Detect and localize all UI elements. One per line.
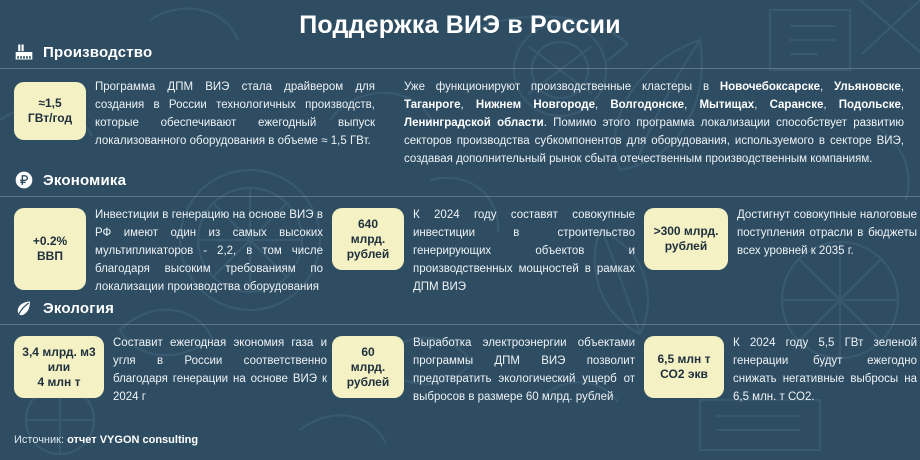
page-title: Поддержка ВИЭ в России [0, 0, 920, 40]
section-title-production: Производство [43, 44, 152, 61]
text-ecology-1: Составит ежегодная экономия газа и угля … [113, 334, 327, 406]
text-economy-3: Достигнут совокупные налоговые поступлен… [737, 206, 917, 260]
section-title-ecology: Экология [43, 300, 114, 317]
text-economy-1: Инвестиции в генерацию на основе ВИЭ в Р… [95, 206, 323, 296]
text-ecology-2: Выработка электроэнергии объектами прогр… [413, 334, 635, 406]
section-economy: Экономика +0.2% ВВП Инвестиции в генерац… [0, 168, 920, 296]
section-header-economy: Экономика [0, 168, 920, 192]
cell-ecology-2: 60 млрд. рублей Выработка электроэнергии… [332, 334, 644, 406]
row-economy: +0.2% ВВП Инвестиции в генерацию на осно… [0, 197, 920, 296]
badge-economy-gdp: +0.2% ВВП [14, 208, 86, 290]
leaf-icon [14, 298, 34, 318]
section-header-production: Производство [0, 40, 920, 64]
badge-production-capacity: ≈1,5 ГВт/год [14, 82, 86, 140]
section-production: Производство ≈1,5 ГВт/год Программа ДПМ … [0, 40, 920, 168]
source-value: отчет VYGON consulting [67, 434, 198, 446]
badge-ecology-damage-prevented: 60 млрд. рублей [332, 336, 404, 398]
badge-ecology-co2: 6,5 млн т СО2 экв [644, 336, 724, 398]
cell-economy-1: +0.2% ВВП Инвестиции в генерацию на осно… [14, 206, 332, 296]
cell-ecology-3: 6,5 млн т СО2 экв К 2024 году 5,5 ГВт зе… [644, 334, 920, 406]
cell-production-2: Уже функционируют производственные класт… [384, 78, 904, 168]
cell-economy-2: 640 млрд. рублей К 2024 году составят со… [332, 206, 644, 296]
cell-ecology-1: 3,4 млрд. м3 или 4 млн т Составит ежегод… [14, 334, 332, 406]
badge-economy-taxes: >300 млрд. рублей [644, 208, 728, 270]
badge-economy-investment: 640 млрд. рублей [332, 208, 404, 270]
text-production-2: Уже функционируют производственные класт… [404, 78, 904, 168]
text-production-1: Программа ДПМ ВИЭ стала драйвером для со… [95, 78, 375, 150]
badge-ecology-fuel-savings: 3,4 млрд. м3 или 4 млн т [14, 336, 104, 398]
text-economy-2: К 2024 году составят совокупные инвестиц… [413, 206, 635, 296]
ruble-circle-icon [14, 170, 34, 190]
text-ecology-3: К 2024 году 5,5 ГВт зеленой генерации бу… [733, 334, 917, 406]
cell-economy-3: >300 млрд. рублей Достигнут совокупные н… [644, 206, 920, 270]
infographic-root: Поддержка ВИЭ в России [0, 0, 920, 460]
row-ecology: 3,4 млрд. м3 или 4 млн т Составит ежегод… [0, 325, 920, 406]
cell-production-1: ≈1,5 ГВт/год Программа ДПМ ВИЭ стала дра… [14, 78, 384, 150]
section-ecology: Экология 3,4 млрд. м3 или 4 млн т Состав… [0, 296, 920, 406]
row-production: ≈1,5 ГВт/год Программа ДПМ ВИЭ стала дра… [0, 69, 920, 168]
source-note: Источник: отчет VYGON consulting [14, 434, 198, 446]
source-label: Источник: [14, 434, 64, 446]
section-title-economy: Экономика [43, 172, 126, 189]
factory-icon [14, 42, 34, 62]
section-header-ecology: Экология [0, 296, 920, 320]
